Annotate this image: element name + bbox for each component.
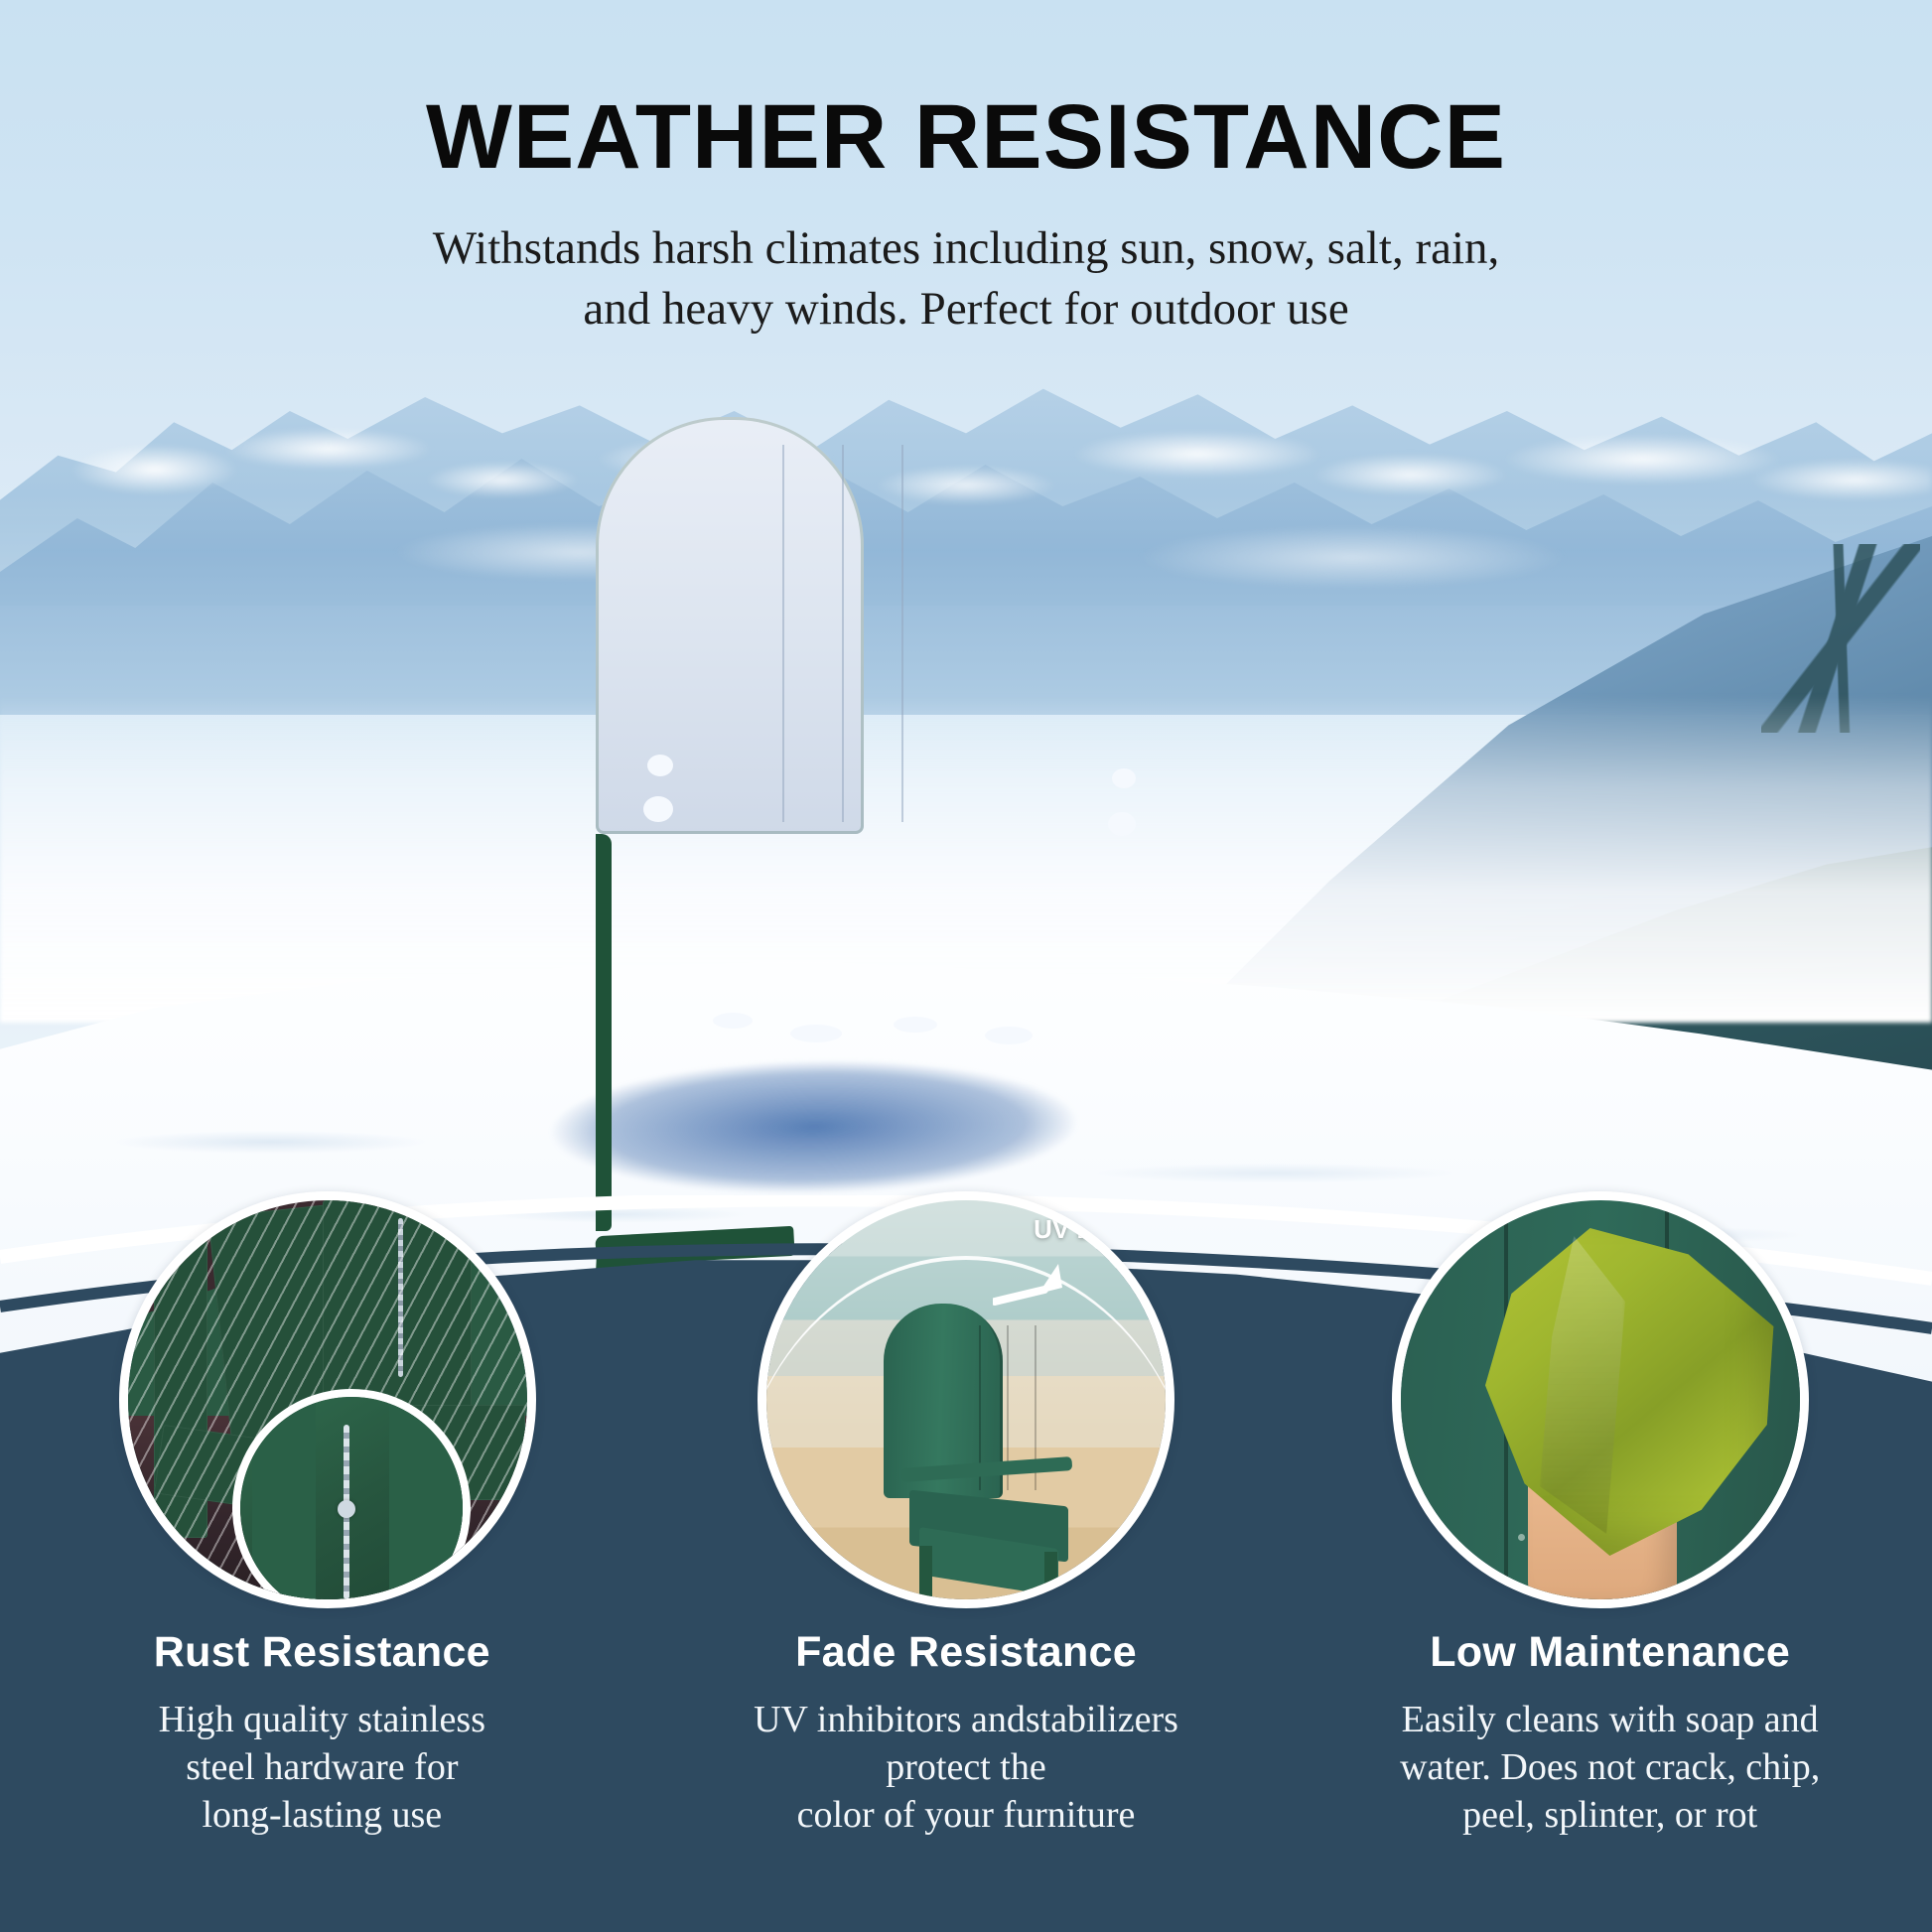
chair-back-slat [782,445,784,822]
snow-fleck [713,1013,753,1029]
uv-light-arrow-icon [993,1260,1070,1308]
feature-image-rust-resistance[interactable] [119,1191,536,1608]
snow-fleck [790,1025,842,1042]
page-subtitle: Withstands harsh climates including sun,… [0,218,1932,340]
uv-light-label: UV Light [1034,1214,1140,1245]
chair-back-slat [842,445,844,822]
feature-title: Low Maintenance [1321,1628,1898,1677]
chair-back-edge [596,834,612,1231]
inset-slat [252,1397,316,1608]
chair-back-slat [901,445,903,822]
infographic-canvas: WEATHER RESISTANCE Withstands harsh clim… [0,0,1932,1932]
beach-chair-leg [919,1546,932,1608]
feature-column-rust-resistance: Rust Resistance High quality stainless s… [0,1628,644,1840]
snow-fleck [647,755,673,776]
beach-adirondack-chair [884,1304,1112,1601]
feature-caption-row: Rust Resistance High quality stainless s… [0,1628,1932,1840]
feature-body: Easily cleans with soap and water. Does … [1321,1697,1898,1840]
feature-body-line: steel hardware for [34,1744,611,1792]
chair-back-panel [596,417,864,834]
header-block: WEATHER RESISTANCE Withstands harsh clim… [0,0,1932,340]
feature-title: Rust Resistance [34,1628,611,1677]
page-title: WEATHER RESISTANCE [0,91,1932,183]
feature-body-line: Easily cleans with soap and [1321,1697,1898,1744]
subtitle-line-1: Withstands harsh climates including sun,… [0,218,1932,279]
snow-fleck [643,796,673,822]
subtitle-line-2: and heavy winds. Perfect for outdoor use [0,279,1932,340]
inset-slat [389,1397,463,1608]
feature-body-line: color of your furniture [678,1792,1255,1840]
hardware-closeup-inset[interactable] [232,1389,471,1608]
adirondack-chair-snow [596,417,1191,1092]
stainless-screw [338,1500,355,1518]
feature-body-line: protect the [678,1744,1255,1792]
feature-body: High quality stainless steel hardware fo… [34,1697,611,1840]
feature-column-fade-resistance: Fade Resistance UV inhibitors andstabili… [644,1628,1289,1840]
feature-image-fade-resistance[interactable]: UV Light [758,1191,1174,1608]
feature-body-line: High quality stainless [34,1697,611,1744]
feature-body-line: long-lasting use [34,1792,611,1840]
feature-column-low-maintenance: Low Maintenance Easily cleans with soap … [1288,1628,1932,1840]
snow-fleck [1112,768,1136,788]
feature-body: UV inhibitors andstabilizers protect the… [678,1697,1255,1840]
snow-fleck [985,1027,1033,1044]
feature-image-low-maintenance[interactable] [1392,1191,1809,1608]
board-screw [1518,1534,1525,1541]
snow-fleck [894,1017,937,1033]
feature-body-line: peel, splinter, or rot [1321,1792,1898,1840]
feature-body-line: UV inhibitors andstabilizers [678,1697,1255,1744]
snow-fleck [1108,812,1136,836]
feature-body-line: water. Does not crack, chip, [1321,1744,1898,1792]
feature-title: Fade Resistance [678,1628,1255,1677]
